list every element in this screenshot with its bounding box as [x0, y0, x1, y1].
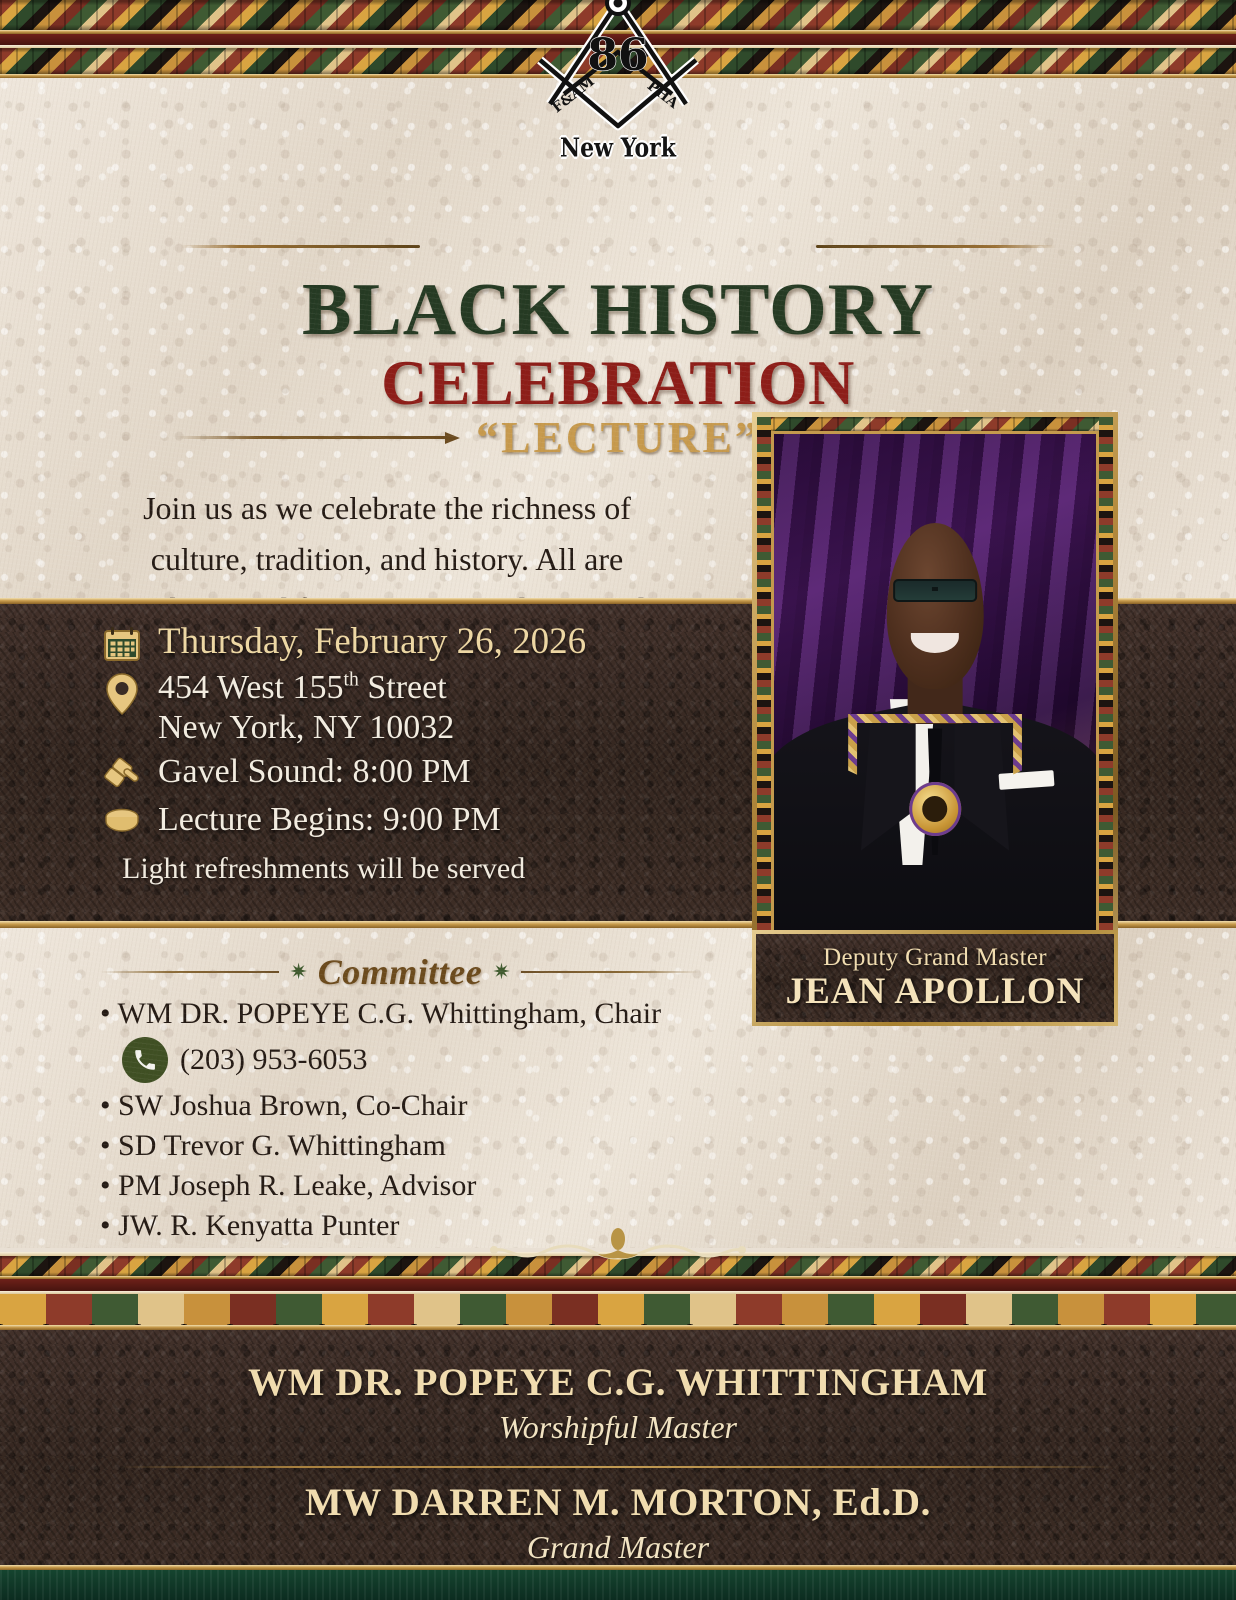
list-item: • SD Trevor G. Whittingham — [100, 1126, 740, 1166]
committee-heading: Committee — [318, 951, 482, 993]
calendar-icon — [100, 620, 144, 664]
masonic-jewel — [909, 782, 961, 836]
address-line-1: 454 West 155th Street — [158, 669, 447, 706]
committee-member-list: • WM DR. POPEYE C.G. Whittingham, Chair … — [100, 994, 740, 1245]
event-date: Thursday, February 26, 2026 — [158, 620, 586, 664]
sounding-block-icon — [100, 800, 144, 838]
flyer-poster: BLACK HISTORY CELEBRATION “LECTURE” Join… — [0, 0, 1236, 1600]
list-item: • SW Joshua Brown, Co-Chair — [100, 1086, 740, 1126]
header-rule-pair — [0, 245, 1236, 249]
list-item: • PM Joseph R. Leake, Advisor — [100, 1166, 740, 1206]
committee-rule-right — [521, 971, 700, 973]
header-rule-left — [180, 245, 420, 248]
frame-kente-left — [757, 417, 771, 1019]
grand-master-name: MW DARREN M. MORTON, Ed.D. — [0, 1480, 1236, 1525]
worshipful-master-role: Worshipful Master — [0, 1409, 1236, 1446]
grand-master-role: Grand Master — [0, 1529, 1236, 1566]
refreshments-note: Light refreshments will be served — [122, 852, 720, 886]
head — [887, 523, 984, 689]
list-item: • WM DR. POPEYE C.G. Whittingham, Chair — [100, 994, 740, 1034]
map-pin-icon — [100, 668, 144, 716]
committee-phone-row[interactable]: (203) 953-6053 — [122, 1037, 740, 1083]
page-title-line2: CELEBRATION — [0, 346, 1236, 420]
detail-row-gavel: Gavel Sound: 8:00 PM — [100, 752, 720, 796]
footer-block-1: WM DR. POPEYE C.G. WHITTINGHAM Worshipfu… — [0, 1360, 1236, 1446]
detail-row-address: 454 West 155th Street New York, NY 10032 — [100, 668, 720, 748]
square-and-compass-emblem: 86 F&AM PHA — [488, 0, 748, 141]
event-details-list: Thursday, February 26, 2026 454 West 155… — [100, 620, 720, 886]
detail-row-lecture: Lecture Begins: 9:00 PM — [100, 800, 720, 840]
kente-chevron-strip — [0, 1294, 1236, 1325]
speaker-figure — [774, 514, 1096, 1002]
phone-icon[interactable] — [122, 1037, 168, 1083]
arrow-divider-left — [175, 436, 460, 439]
star-icon: ✷ — [492, 959, 510, 985]
page-subtitle-lecture: “LECTURE” — [460, 412, 776, 463]
speaker-photo — [771, 431, 1099, 1005]
lodge-logo: Abercorn Lodge 86 F&AM PHA New York — [488, 0, 748, 161]
detail-row-date: Thursday, February 26, 2026 — [100, 620, 720, 664]
footer-divider — [118, 1466, 1118, 1468]
footer-green-strip — [0, 1570, 1236, 1600]
event-address: 454 West 155th Street New York, NY 10032 — [158, 668, 454, 748]
footer-block-2: MW DARREN M. MORTON, Ed.D. Grand Master — [0, 1480, 1236, 1566]
speaker-name: JEAN APOLLON — [786, 970, 1085, 1013]
eyeglasses-icon — [893, 579, 977, 601]
committee-heading-row: ✷ Committee ✷ — [100, 950, 700, 994]
emblem-number: 86 — [587, 30, 648, 81]
dark-red-stripe-bottom — [0, 1279, 1236, 1291]
page-title-line1: BLACK HISTORY — [0, 268, 1236, 353]
frame-kente-right — [1099, 417, 1113, 1019]
speaker-title: Deputy Grand Master — [823, 944, 1047, 972]
gavel-time: Gavel Sound: 8:00 PM — [158, 752, 471, 792]
speaker-caption-plaque: Deputy Grand Master JEAN APOLLON — [752, 930, 1118, 1026]
header-rule-right — [816, 245, 1056, 248]
worshipful-master-name: WM DR. POPEYE C.G. WHITTINGHAM — [0, 1360, 1236, 1405]
plaque-text: Deputy Grand Master JEAN APOLLON — [752, 930, 1118, 1026]
lodge-state: New York — [488, 132, 748, 163]
lecture-time: Lecture Begins: 9:00 PM — [158, 800, 501, 840]
invitation-text: Join us as we celebrate the richness of … — [92, 483, 682, 598]
footer-section: WM DR. POPEYE C.G. WHITTINGHAM Worshipfu… — [0, 1330, 1236, 1600]
committee-phone-number[interactable]: (203) 953-6053 — [180, 1043, 367, 1077]
committee-rule-left — [100, 971, 279, 973]
gavel-icon — [100, 752, 144, 796]
frame-kente-top — [757, 417, 1113, 431]
address-line-2: New York, NY 10032 — [158, 709, 454, 746]
ornamental-flourish-divider — [0, 1228, 1236, 1268]
star-icon: ✷ — [289, 959, 307, 985]
